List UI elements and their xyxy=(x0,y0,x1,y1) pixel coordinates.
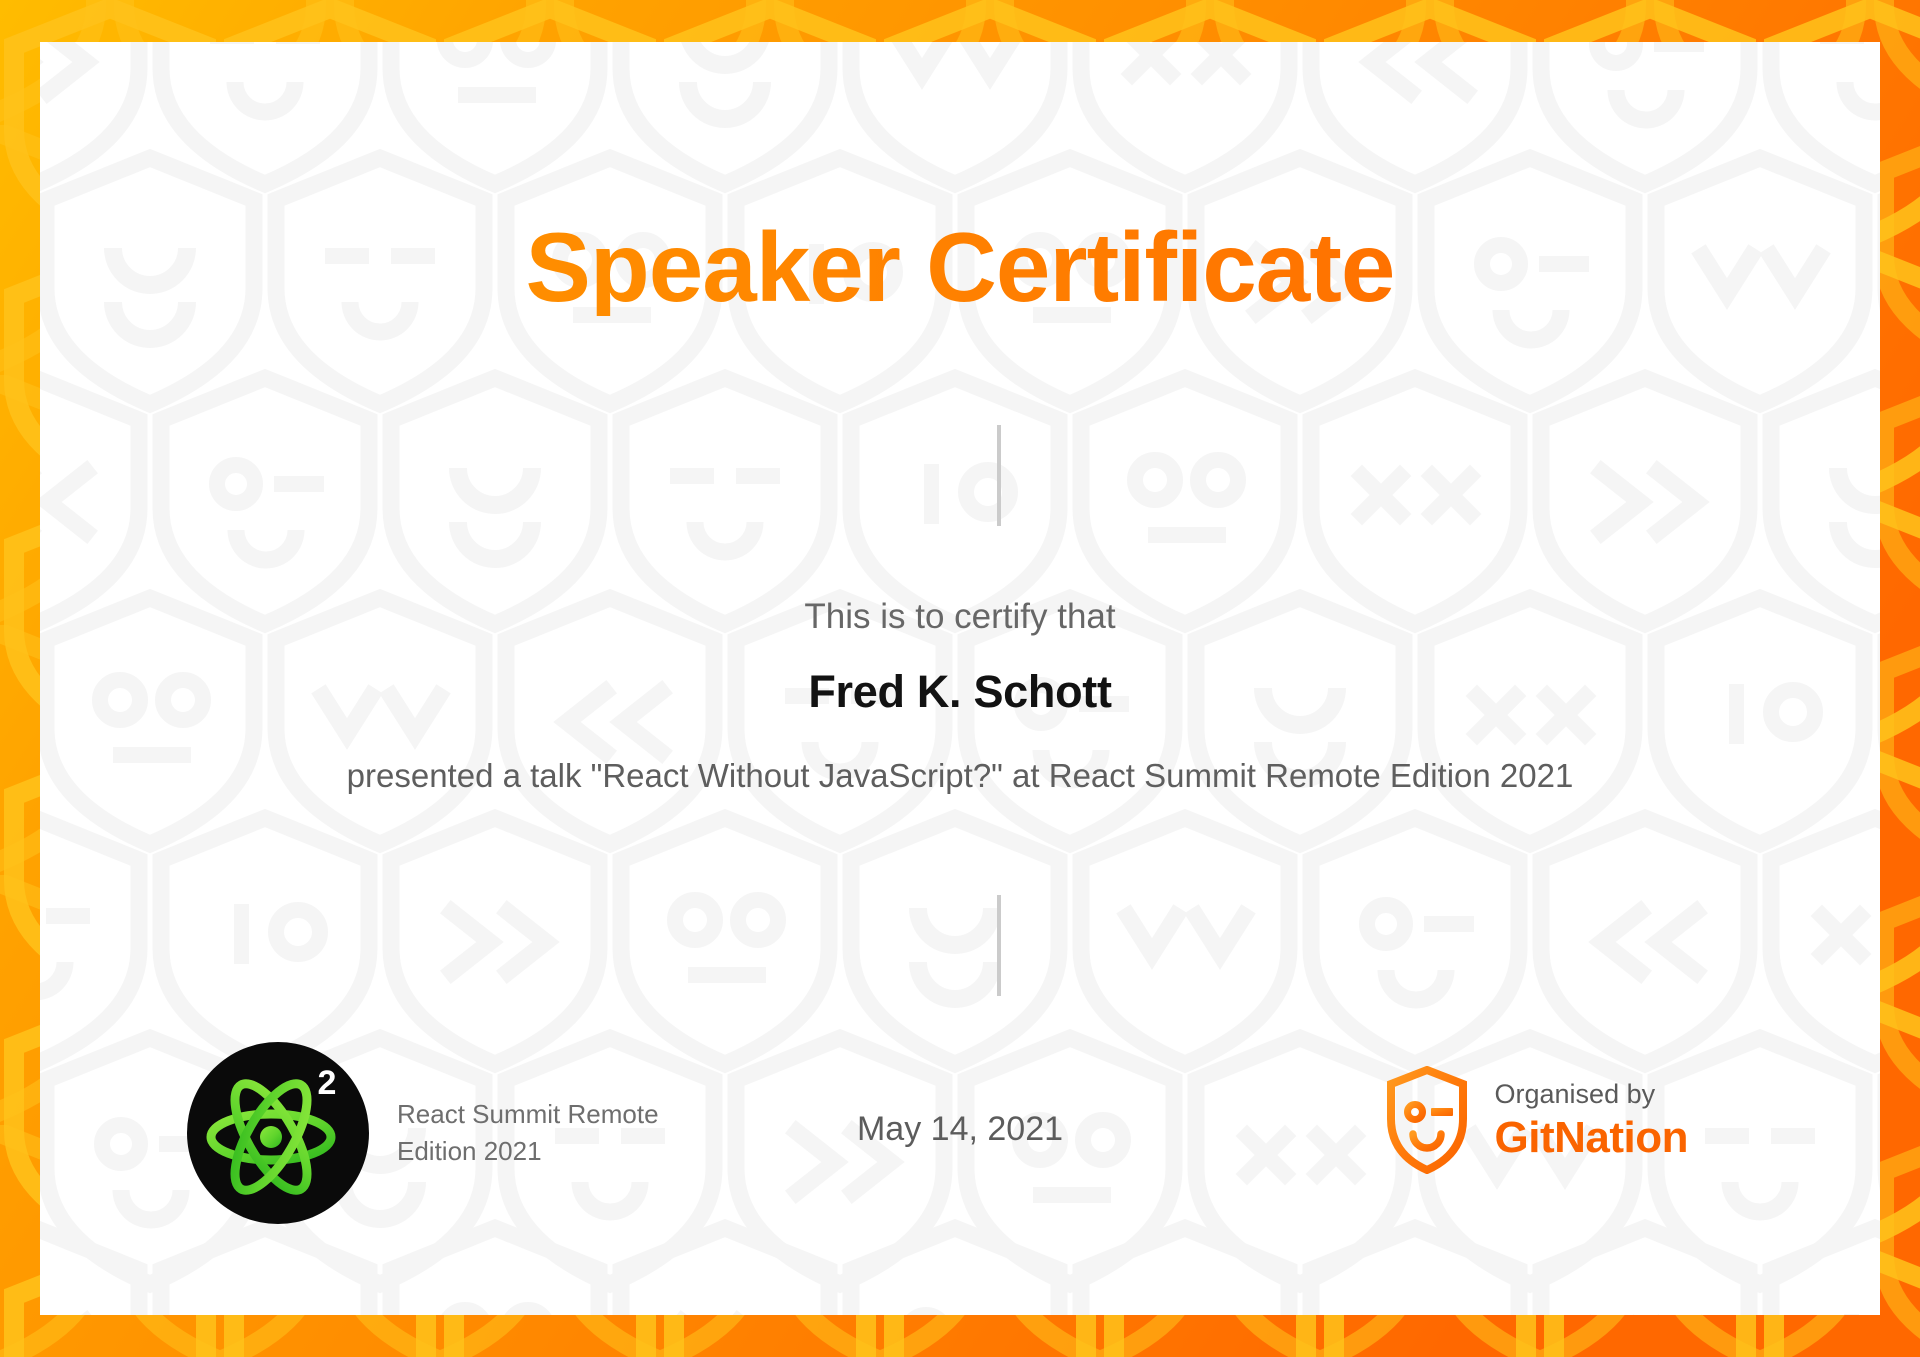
organiser-block: Organised by GitNation xyxy=(1385,1066,1688,1174)
organised-by-label: Organised by xyxy=(1495,1078,1688,1112)
page-title: Speaker Certificate xyxy=(40,218,1880,316)
certificate-card: Speaker Certificate This is to certify t… xyxy=(40,42,1880,1315)
gitnation-shield-icon xyxy=(1385,1066,1469,1174)
svg-text:2: 2 xyxy=(318,1064,337,1102)
certificate: Speaker Certificate This is to certify t… xyxy=(0,0,1920,1357)
vertical-divider-bottom xyxy=(997,895,1001,996)
gitnation-wordmark: GitNation xyxy=(1495,1114,1688,1162)
certify-line: This is to certify that xyxy=(40,597,1880,637)
recipient-name: Fred K. Schott xyxy=(40,666,1880,718)
certificate-footer: 2 React Summit Remote Edition 2021 May 1… xyxy=(40,1042,1880,1252)
talk-description: presented a talk "React Without JavaScri… xyxy=(276,752,1644,801)
vertical-divider-top xyxy=(997,425,1001,526)
